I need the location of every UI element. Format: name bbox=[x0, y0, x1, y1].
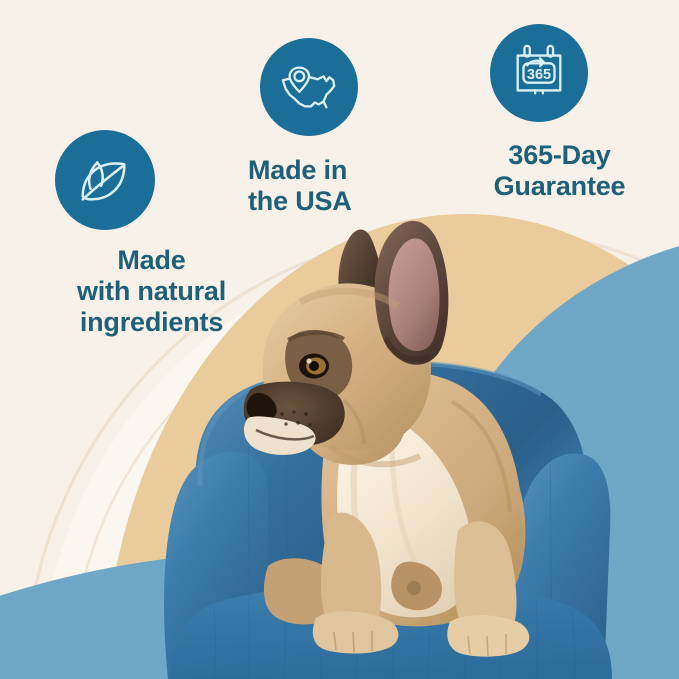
calendar-icon-number: 365 bbox=[527, 67, 551, 83]
badge-made-with-natural-ingredients[interactable]: Made with natural ingredients bbox=[44, 130, 259, 337]
badge-label-natural: Made with natural ingredients bbox=[44, 245, 259, 337]
dog-rear-foot-pad bbox=[407, 581, 421, 595]
product-feature-image: Made with natural ingredients Made in th… bbox=[0, 0, 679, 679]
leaf-badge-circle bbox=[55, 130, 155, 230]
badge-label-usa: Made in the USA bbox=[246, 155, 426, 217]
usa-map-pin-icon bbox=[278, 56, 340, 118]
badge-365-day-guarantee[interactable]: 365 365-Day Guarantee bbox=[452, 24, 667, 202]
calendar-365-icon: 365 bbox=[508, 42, 570, 104]
badge-made-in-the-usa[interactable]: Made in the USA bbox=[246, 38, 426, 217]
calendar-badge-circle: 365 bbox=[490, 24, 588, 122]
usa-badge-circle bbox=[260, 38, 358, 136]
dog-eye-highlight bbox=[306, 358, 311, 363]
badge-label-guarantee: 365-Day Guarantee bbox=[452, 140, 667, 202]
leaf-icon bbox=[74, 149, 136, 211]
dog-near-ear-inner bbox=[389, 238, 440, 351]
